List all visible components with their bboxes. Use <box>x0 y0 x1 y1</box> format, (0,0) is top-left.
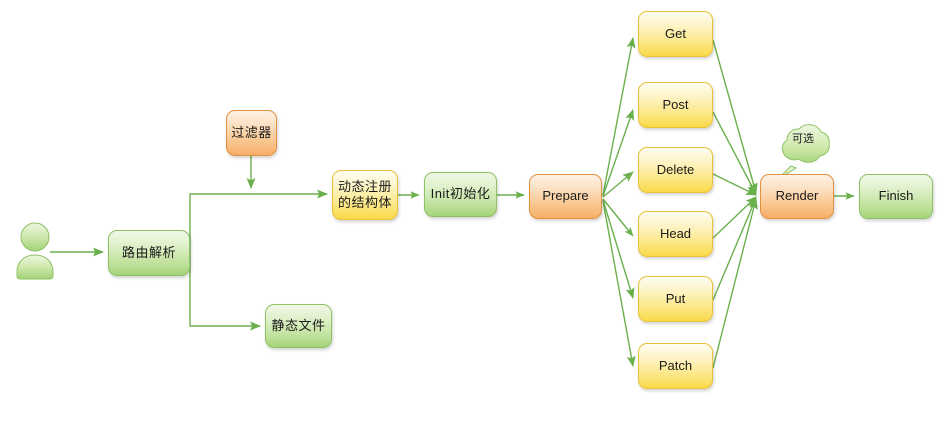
edge-put-render <box>713 198 756 300</box>
edge-route-register <box>190 194 327 252</box>
node-filter[interactable]: 过滤器 <box>226 110 277 156</box>
node-static-file-label: 静态文件 <box>267 318 329 334</box>
node-method-get-label: Get <box>661 26 690 42</box>
optional-cloud-label: 可选 <box>770 120 836 168</box>
edge-get-render <box>713 40 756 193</box>
node-method-put[interactable]: Put <box>638 276 713 322</box>
edge-prepare-get <box>603 38 633 195</box>
edge-head-render <box>713 197 756 238</box>
node-render-label: Render <box>772 188 823 204</box>
edge-patch-render <box>713 199 756 368</box>
edge-prepare-put <box>603 200 633 298</box>
node-dynamic-register-label: 动态注册 的结构体 <box>334 179 396 212</box>
node-method-post[interactable]: Post <box>638 82 713 128</box>
node-finish[interactable]: Finish <box>859 174 933 219</box>
edge-delete-render <box>713 174 756 195</box>
edge-prepare-patch <box>603 201 633 366</box>
node-init-label: Init初始化 <box>427 186 495 202</box>
node-route-parse-label: 路由解析 <box>118 245 180 261</box>
node-method-delete[interactable]: Delete <box>638 147 713 193</box>
flowchart-canvas: 可选 路由解析 过滤器 静态文件 动态注册 的结构体 Init初始化 Prepa… <box>0 0 951 448</box>
edge-prepare-head <box>603 199 633 236</box>
edge-prepare-delete <box>603 172 633 197</box>
node-prepare-label: Prepare <box>538 188 592 204</box>
edge-layer <box>0 0 951 448</box>
node-method-patch[interactable]: Patch <box>638 343 713 389</box>
node-method-get[interactable]: Get <box>638 11 713 57</box>
edge-post-render <box>713 112 756 194</box>
edge-prepare-post <box>603 110 633 196</box>
node-dynamic-register[interactable]: 动态注册 的结构体 <box>332 170 398 220</box>
optional-cloud-label-wrap: 可选 <box>770 120 836 168</box>
node-route-parse[interactable]: 路由解析 <box>108 230 190 276</box>
user-actor-icon <box>12 222 58 282</box>
node-init[interactable]: Init初始化 <box>424 172 497 217</box>
node-method-head[interactable]: Head <box>638 211 713 257</box>
node-method-head-label: Head <box>656 226 695 242</box>
node-render[interactable]: Render <box>760 174 834 219</box>
node-method-patch-label: Patch <box>655 358 696 374</box>
edge-route-static <box>190 252 260 326</box>
node-method-post-label: Post <box>658 97 692 113</box>
node-filter-label: 过滤器 <box>227 125 276 141</box>
node-finish-label: Finish <box>875 188 918 204</box>
node-method-put-label: Put <box>662 291 690 307</box>
node-method-delete-label: Delete <box>653 162 699 178</box>
node-prepare[interactable]: Prepare <box>529 174 602 219</box>
node-static-file[interactable]: 静态文件 <box>265 304 332 348</box>
